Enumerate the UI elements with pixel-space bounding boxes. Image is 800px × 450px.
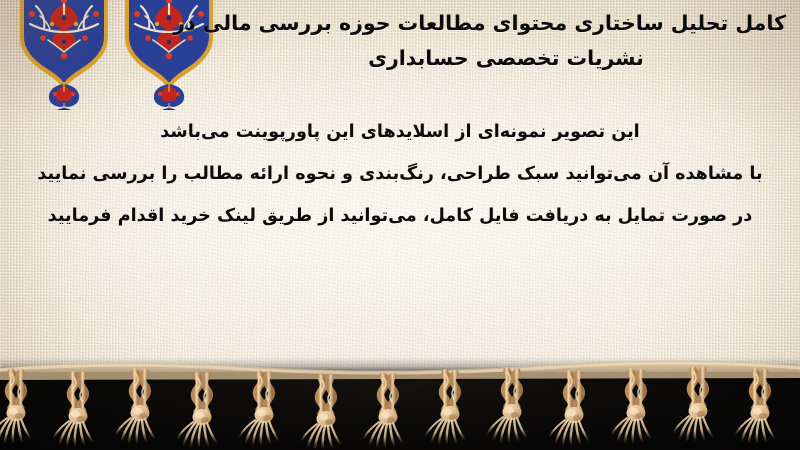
slide-body-line-3: در صورت تمایل به دریافت فایل کامل، می‌تو…: [0, 196, 800, 238]
slide-title: کامل تحلیل ساختاری محتوای مطالعات حوزه ب…: [226, 6, 786, 77]
slide-canvas: کامل تحلیل ساختاری محتوای مطالعات حوزه ب…: [0, 0, 800, 450]
slide-title-line-1: کامل تحلیل ساختاری محتوای مطالعات حوزه ب…: [226, 6, 786, 41]
slide-body-line-2: با مشاهده آن می‌توانید سبک طراحی، رنگ‌بن…: [0, 154, 800, 196]
slide-body-line-1: این تصویر نمونه‌ای از اسلایدهای این پاور…: [0, 112, 800, 154]
text-layer: کامل تحلیل ساختاری محتوای مطالعات حوزه ب…: [0, 0, 800, 450]
slide-body: این تصویر نمونه‌ای از اسلایدهای این پاور…: [0, 112, 800, 238]
slide-title-line-2: نشریات تخصصی حسابداری: [226, 41, 786, 76]
